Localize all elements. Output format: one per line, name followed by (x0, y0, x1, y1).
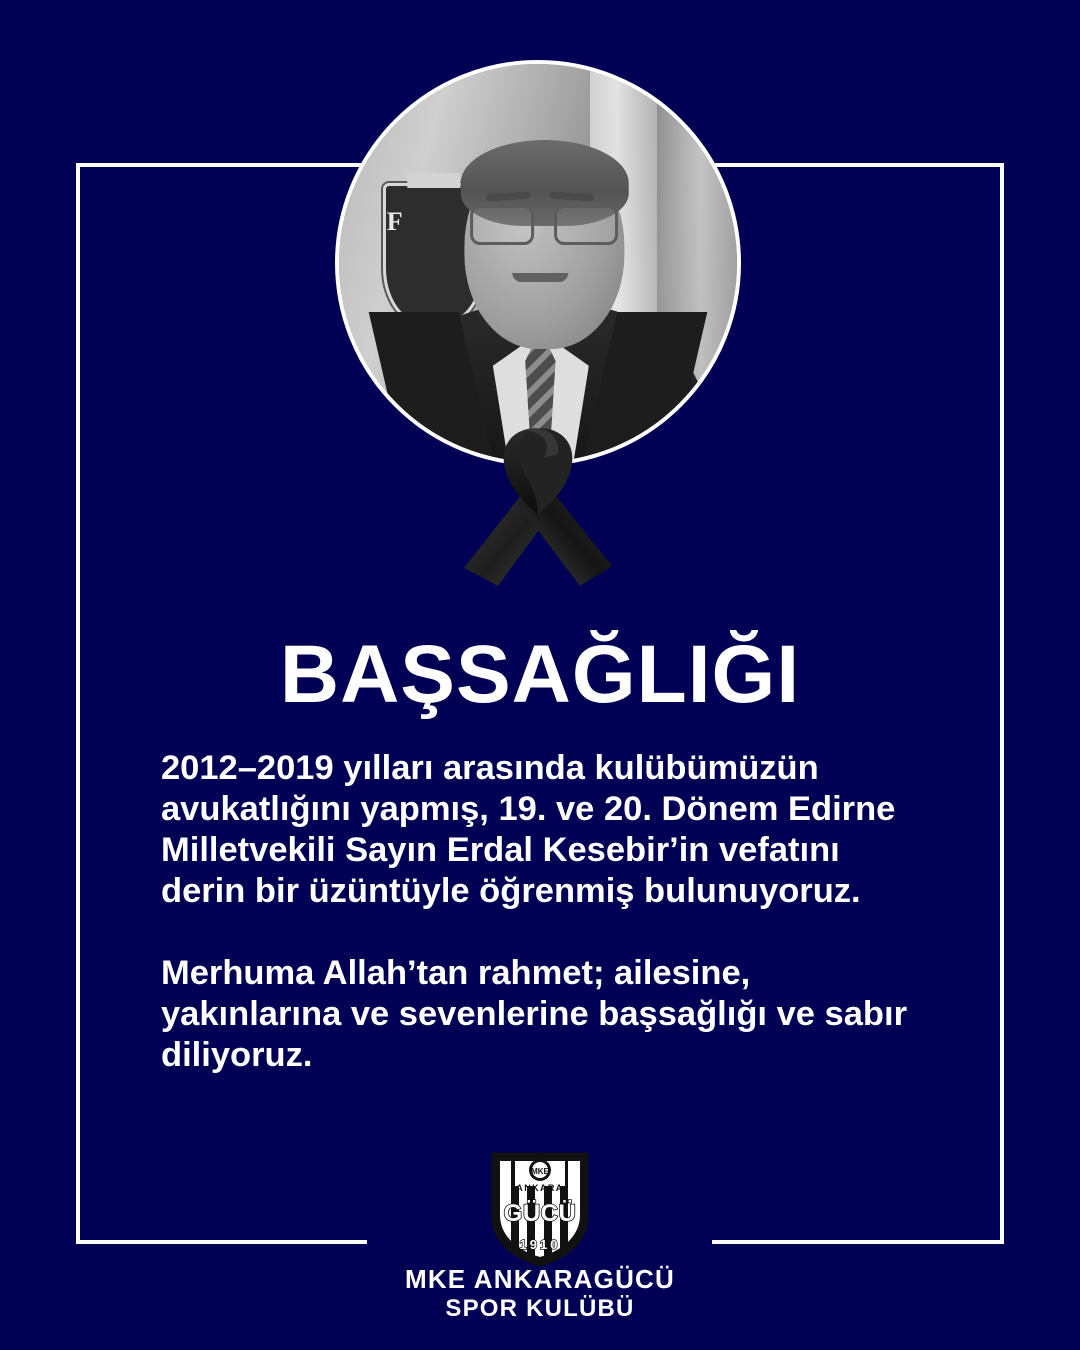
condolence-poster: F M (0, 0, 1080, 1350)
portrait-eyeglasses (468, 205, 620, 241)
announcement-text: 2012–2019 yılları arasında kulübümüzün a… (161, 748, 931, 1076)
portrait-photo: F M (335, 60, 741, 466)
announcement-paragraph-1: 2012–2019 yılları arasında kulübümüzün a… (161, 748, 931, 912)
wall-crest-letter-left: F (387, 207, 403, 237)
announcement-paragraph-2: Merhuma Allah’tan rahmet; ailesine, yakı… (161, 953, 931, 1076)
portrait-mouth (512, 273, 568, 282)
club-name-line-1: MKE ANKARAGÜCÜ (0, 1264, 1080, 1294)
frame-border-bottom-right (712, 1240, 1004, 1244)
crest-top-text: MKE (531, 1167, 549, 1176)
club-crest-icon: MKE ANKARA GÜCÜ 1910 (489, 1150, 591, 1268)
portrait-background: F M (339, 64, 737, 462)
crest-mid-text: GÜCÜ (504, 1200, 577, 1227)
honoree-name: Erdal Kesebir (447, 831, 669, 869)
crest-year-text: 1910 (520, 1237, 561, 1252)
frame-border-bottom-left (76, 1240, 367, 1244)
crest-arc-text: ANKARA (516, 1183, 563, 1193)
club-footer: MKE ANKARAGÜCÜ SPOR KULÜBÜ (0, 1264, 1080, 1324)
paragraph-spacer (161, 912, 931, 953)
page-title: BAŞSAĞLIĞI (0, 634, 1080, 716)
club-name-line-2: SPOR KULÜBÜ (0, 1294, 1080, 1324)
mourning-ribbon-icon (440, 418, 636, 588)
